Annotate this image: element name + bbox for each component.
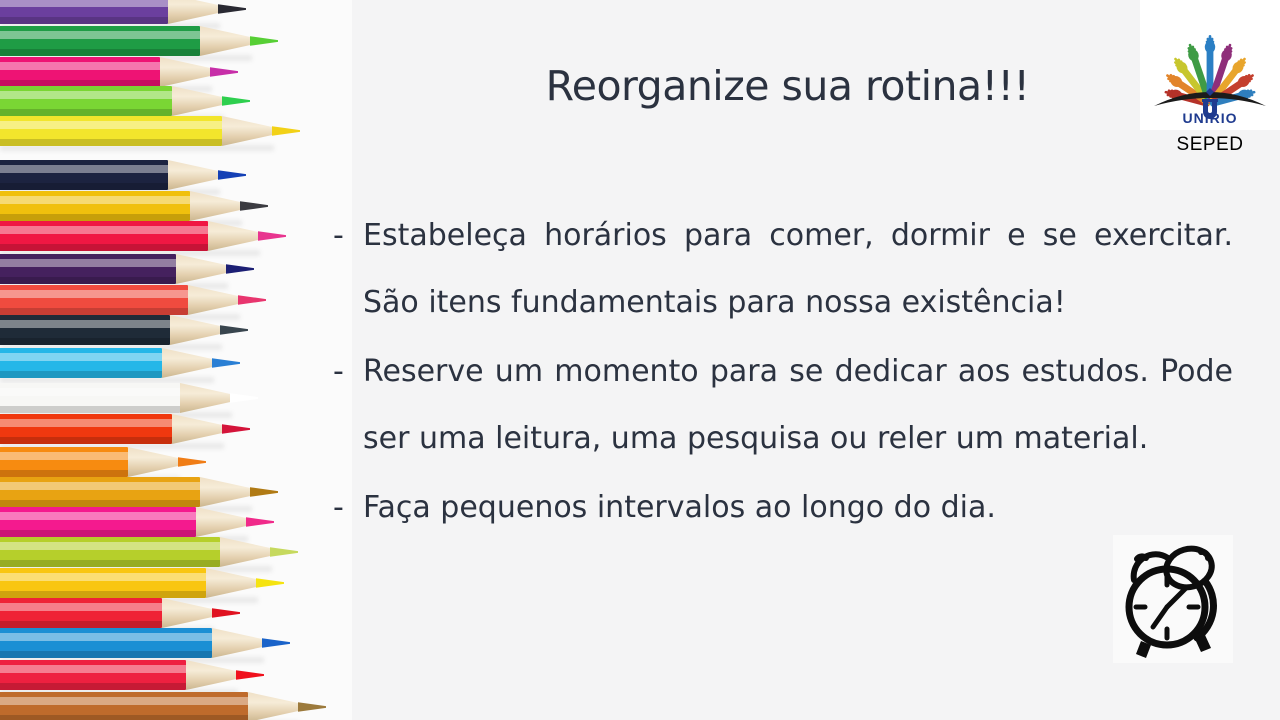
pencil (0, 660, 266, 690)
pencil-barrel (0, 116, 222, 146)
pencil-barrel (0, 160, 168, 190)
pencil-wood-tip (172, 86, 224, 116)
pencil (0, 692, 328, 720)
pencil-wood-tip (162, 598, 214, 628)
pencil-lead-tip (178, 447, 206, 477)
pencil-barrel (0, 0, 168, 24)
pencil (0, 414, 252, 444)
pencil-barrel (0, 57, 160, 87)
pencil-wood-tip (196, 507, 248, 537)
bullet-text: Faça pequenos intervalos ao longo do dia… (363, 474, 1233, 541)
pencil-barrel (0, 447, 128, 477)
pencil-barrel (0, 660, 186, 690)
pencil (0, 285, 268, 315)
pencil-wood-tip (128, 447, 180, 477)
pencil-wood-tip (248, 692, 300, 720)
logo-block: UNIRIO SEPED (1140, 0, 1280, 156)
pencil-wood-tip (206, 568, 258, 598)
pencil-wood-tip (200, 26, 252, 56)
pencil-wood-tip (168, 160, 220, 190)
pencil (0, 191, 270, 221)
pencil-lead-tip (258, 221, 286, 251)
pencil-lead-tip (222, 414, 250, 444)
pencil-wood-tip (176, 254, 228, 284)
pencil-lead-tip (272, 116, 300, 146)
bullet-list: - Estabeleça horários para comer, dormir… (333, 202, 1233, 543)
alarm-clock-illustration (1113, 535, 1233, 663)
pencil (0, 507, 276, 537)
bullet-text: Reserve um momento para se dedicar aos e… (363, 338, 1233, 472)
pencil (0, 160, 248, 190)
pencil-lead-tip (236, 660, 264, 690)
pencil-barrel (0, 692, 248, 720)
pencil-lead-tip (226, 254, 254, 284)
pencil-lead-tip (240, 191, 268, 221)
pencil (0, 116, 302, 146)
pencil-lead-tip (298, 692, 326, 720)
pencil-wood-tip (172, 414, 224, 444)
list-item: - Estabeleça horários para comer, dormir… (333, 202, 1233, 336)
bullet-marker: - (333, 474, 363, 541)
pencil-barrel (0, 348, 162, 378)
pencil-barrel (0, 414, 172, 444)
pencil-wood-tip (160, 57, 212, 87)
pencil-barrel (0, 315, 170, 345)
colored-pencils-photo (0, 0, 352, 720)
pencil-lead-tip (256, 568, 284, 598)
pencil-lead-tip (220, 315, 248, 345)
pencil (0, 348, 242, 378)
pencil-lead-tip (212, 598, 240, 628)
pencil-barrel (0, 86, 172, 116)
pencil-lead-tip (212, 348, 240, 378)
pencil-lead-tip (270, 537, 298, 567)
alarm-clock-icon (1113, 535, 1233, 663)
pencil-wood-tip (200, 477, 252, 507)
pencil (0, 26, 280, 56)
list-item: - Faça pequenos intervalos ao longo do d… (333, 474, 1233, 541)
bullet-marker: - (333, 338, 363, 405)
unirio-logo: UNIRIO (1140, 0, 1280, 130)
pencil-wood-tip (222, 116, 274, 146)
pencil (0, 537, 300, 567)
pencil-lead-tip (262, 628, 290, 658)
pencil (0, 568, 286, 598)
page-title: Reorganize sua rotina!!! (360, 62, 1215, 110)
pencil-barrel (0, 598, 162, 628)
pencil-barrel (0, 537, 220, 567)
pencil-wood-tip (208, 221, 260, 251)
pencil-wood-tip (180, 383, 232, 413)
pencil-wood-tip (212, 628, 264, 658)
pencil-lead-tip (218, 0, 246, 24)
pencil-barrel (0, 191, 190, 221)
pencil-barrel (0, 26, 200, 56)
pencil (0, 447, 208, 477)
pencil-barrel (0, 254, 176, 284)
slide-canvas: Reorganize sua rotina!!! UNIRIO SEPED - … (0, 0, 1280, 720)
pencil-lead-tip (250, 477, 278, 507)
pencil-lead-tip (238, 285, 266, 315)
pencil (0, 383, 260, 413)
pencil-wood-tip (190, 191, 242, 221)
pencil-lead-tip (222, 86, 250, 116)
pencil-wood-tip (220, 537, 272, 567)
seped-caption: SEPED (1140, 134, 1280, 156)
pencil (0, 0, 248, 24)
pencil (0, 315, 250, 345)
pencil-lead-tip (230, 383, 258, 413)
pencil-wood-tip (168, 0, 220, 24)
pencil-lead-tip (218, 160, 246, 190)
pencil (0, 86, 252, 116)
bullet-marker: - (333, 202, 363, 269)
pencil (0, 477, 280, 507)
pencil-lead-tip (246, 507, 274, 537)
pencil-barrel (0, 568, 206, 598)
bullet-text: Estabeleça horários para comer, dormir e… (363, 202, 1233, 336)
pencil (0, 628, 292, 658)
pencil-barrel (0, 285, 188, 315)
pencil-barrel (0, 477, 200, 507)
pencil (0, 221, 288, 251)
pencil-barrel (0, 628, 212, 658)
pencil (0, 254, 256, 284)
pencil-wood-tip (162, 348, 214, 378)
pencil-barrel (0, 383, 180, 413)
unirio-wordmark: UNIRIO (1140, 110, 1280, 126)
pencil-barrel (0, 507, 196, 537)
pencil-wood-tip (186, 660, 238, 690)
pencil (0, 598, 242, 628)
pencil-wood-tip (170, 315, 222, 345)
pencil-lead-tip (210, 57, 238, 87)
pencil-barrel (0, 221, 208, 251)
pencil-wood-tip (188, 285, 240, 315)
list-item: - Reserve um momento para se dedicar aos… (333, 338, 1233, 472)
pencil (0, 57, 240, 87)
pencil-lead-tip (250, 26, 278, 56)
